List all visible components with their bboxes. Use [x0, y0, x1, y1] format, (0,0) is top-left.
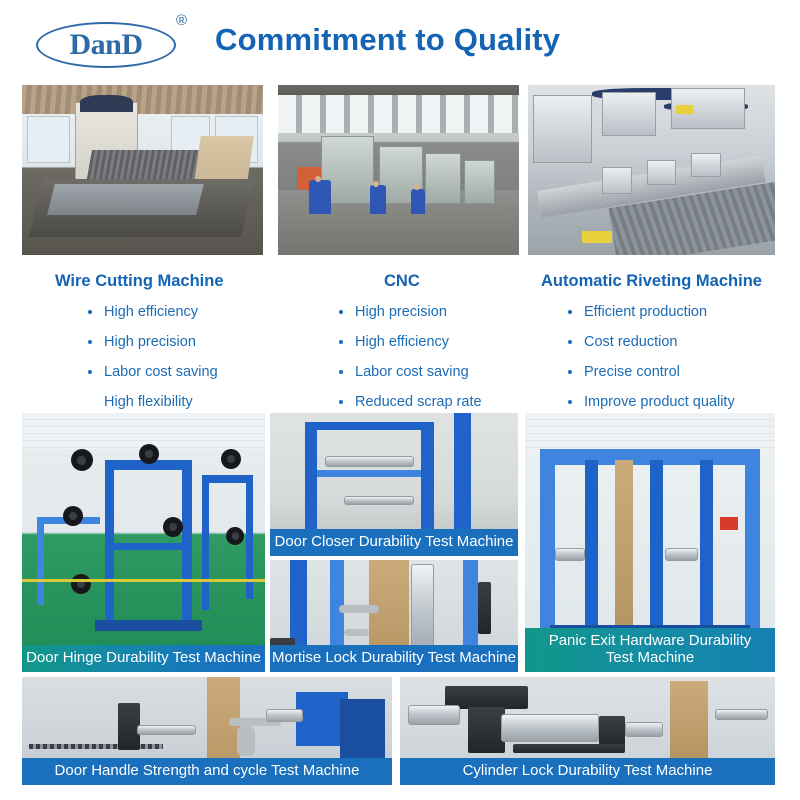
page-header: DanD ® Commitment to Quality: [0, 0, 800, 82]
panic-exit-hardware-test-machine-photo: Panic Exit Hardware Durability Test Mach…: [525, 413, 775, 672]
door-hinge-test-machine-photo: Door Hinge Durability Test Machine: [22, 413, 265, 672]
cylinder-lock-test-machine-photo: Cylinder Lock Durability Test Machine: [400, 677, 775, 785]
caption-cylinder-lock: Cylinder Lock Durability Test Machine: [400, 758, 775, 785]
caption-door-handle: Door Handle Strength and cycle Test Mach…: [22, 758, 392, 785]
feature-list-cnc: High precision High efficiency Labor cos…: [337, 305, 482, 425]
cnc-machine-line-photo: [278, 85, 519, 255]
wire-cutting-machine-photo: [22, 85, 263, 255]
column-heading-cnc: CNC: [384, 272, 420, 291]
company-logo: DanD ®: [28, 8, 196, 70]
column-heading-riveting: Automatic Riveting Machine: [541, 272, 762, 291]
list-item: Improve product quality: [566, 395, 735, 409]
list-item: High precision: [86, 335, 218, 349]
list-item: Efficient production: [566, 305, 735, 319]
list-item: High flexibility: [86, 395, 218, 409]
caption-door-hinge: Door Hinge Durability Test Machine: [22, 645, 265, 672]
caption-door-closer: Door Closer Durability Test Machine: [270, 529, 518, 556]
list-item: High efficiency: [337, 335, 482, 349]
list-item: High efficiency: [86, 305, 218, 319]
list-item: Labor cost saving: [86, 365, 218, 379]
door-closer-test-machine-photo: Door Closer Durability Test Machine: [270, 413, 518, 556]
feature-list-riveting: Efficient production Cost reduction Prec…: [566, 305, 735, 425]
list-item: Cost reduction: [566, 335, 735, 349]
feature-list-wire-cutting: High efficiency High precision Labor cos…: [86, 305, 218, 425]
logo-text: DanD: [36, 22, 176, 68]
caption-mortise-lock: Mortise Lock Durability Test Machine: [270, 645, 518, 672]
door-handle-test-machine-photo: Door Handle Strength and cycle Test Mach…: [22, 677, 392, 785]
registered-trademark-icon: ®: [176, 12, 187, 29]
column-heading-wire-cutting: Wire Cutting Machine: [55, 272, 224, 291]
list-item: Reduced scrap rate: [337, 395, 482, 409]
automatic-riveting-machine-photo: [528, 85, 775, 255]
list-item: Precise control: [566, 365, 735, 379]
mortise-lock-test-machine-photo: Mortise Lock Durability Test Machine: [270, 560, 518, 672]
caption-panic-exit-line1: Panic Exit Hardware Durability: [549, 632, 752, 649]
list-item: Labor cost saving: [337, 365, 482, 379]
caption-panic-exit: Panic Exit Hardware Durability Test Mach…: [525, 628, 775, 672]
list-item: High precision: [337, 305, 482, 319]
caption-panic-exit-line2: Test Machine: [606, 649, 694, 666]
page-title: Commitment to Quality: [215, 22, 635, 58]
commitment-to-quality-page: DanD ® Commitment to Quality: [0, 0, 800, 800]
